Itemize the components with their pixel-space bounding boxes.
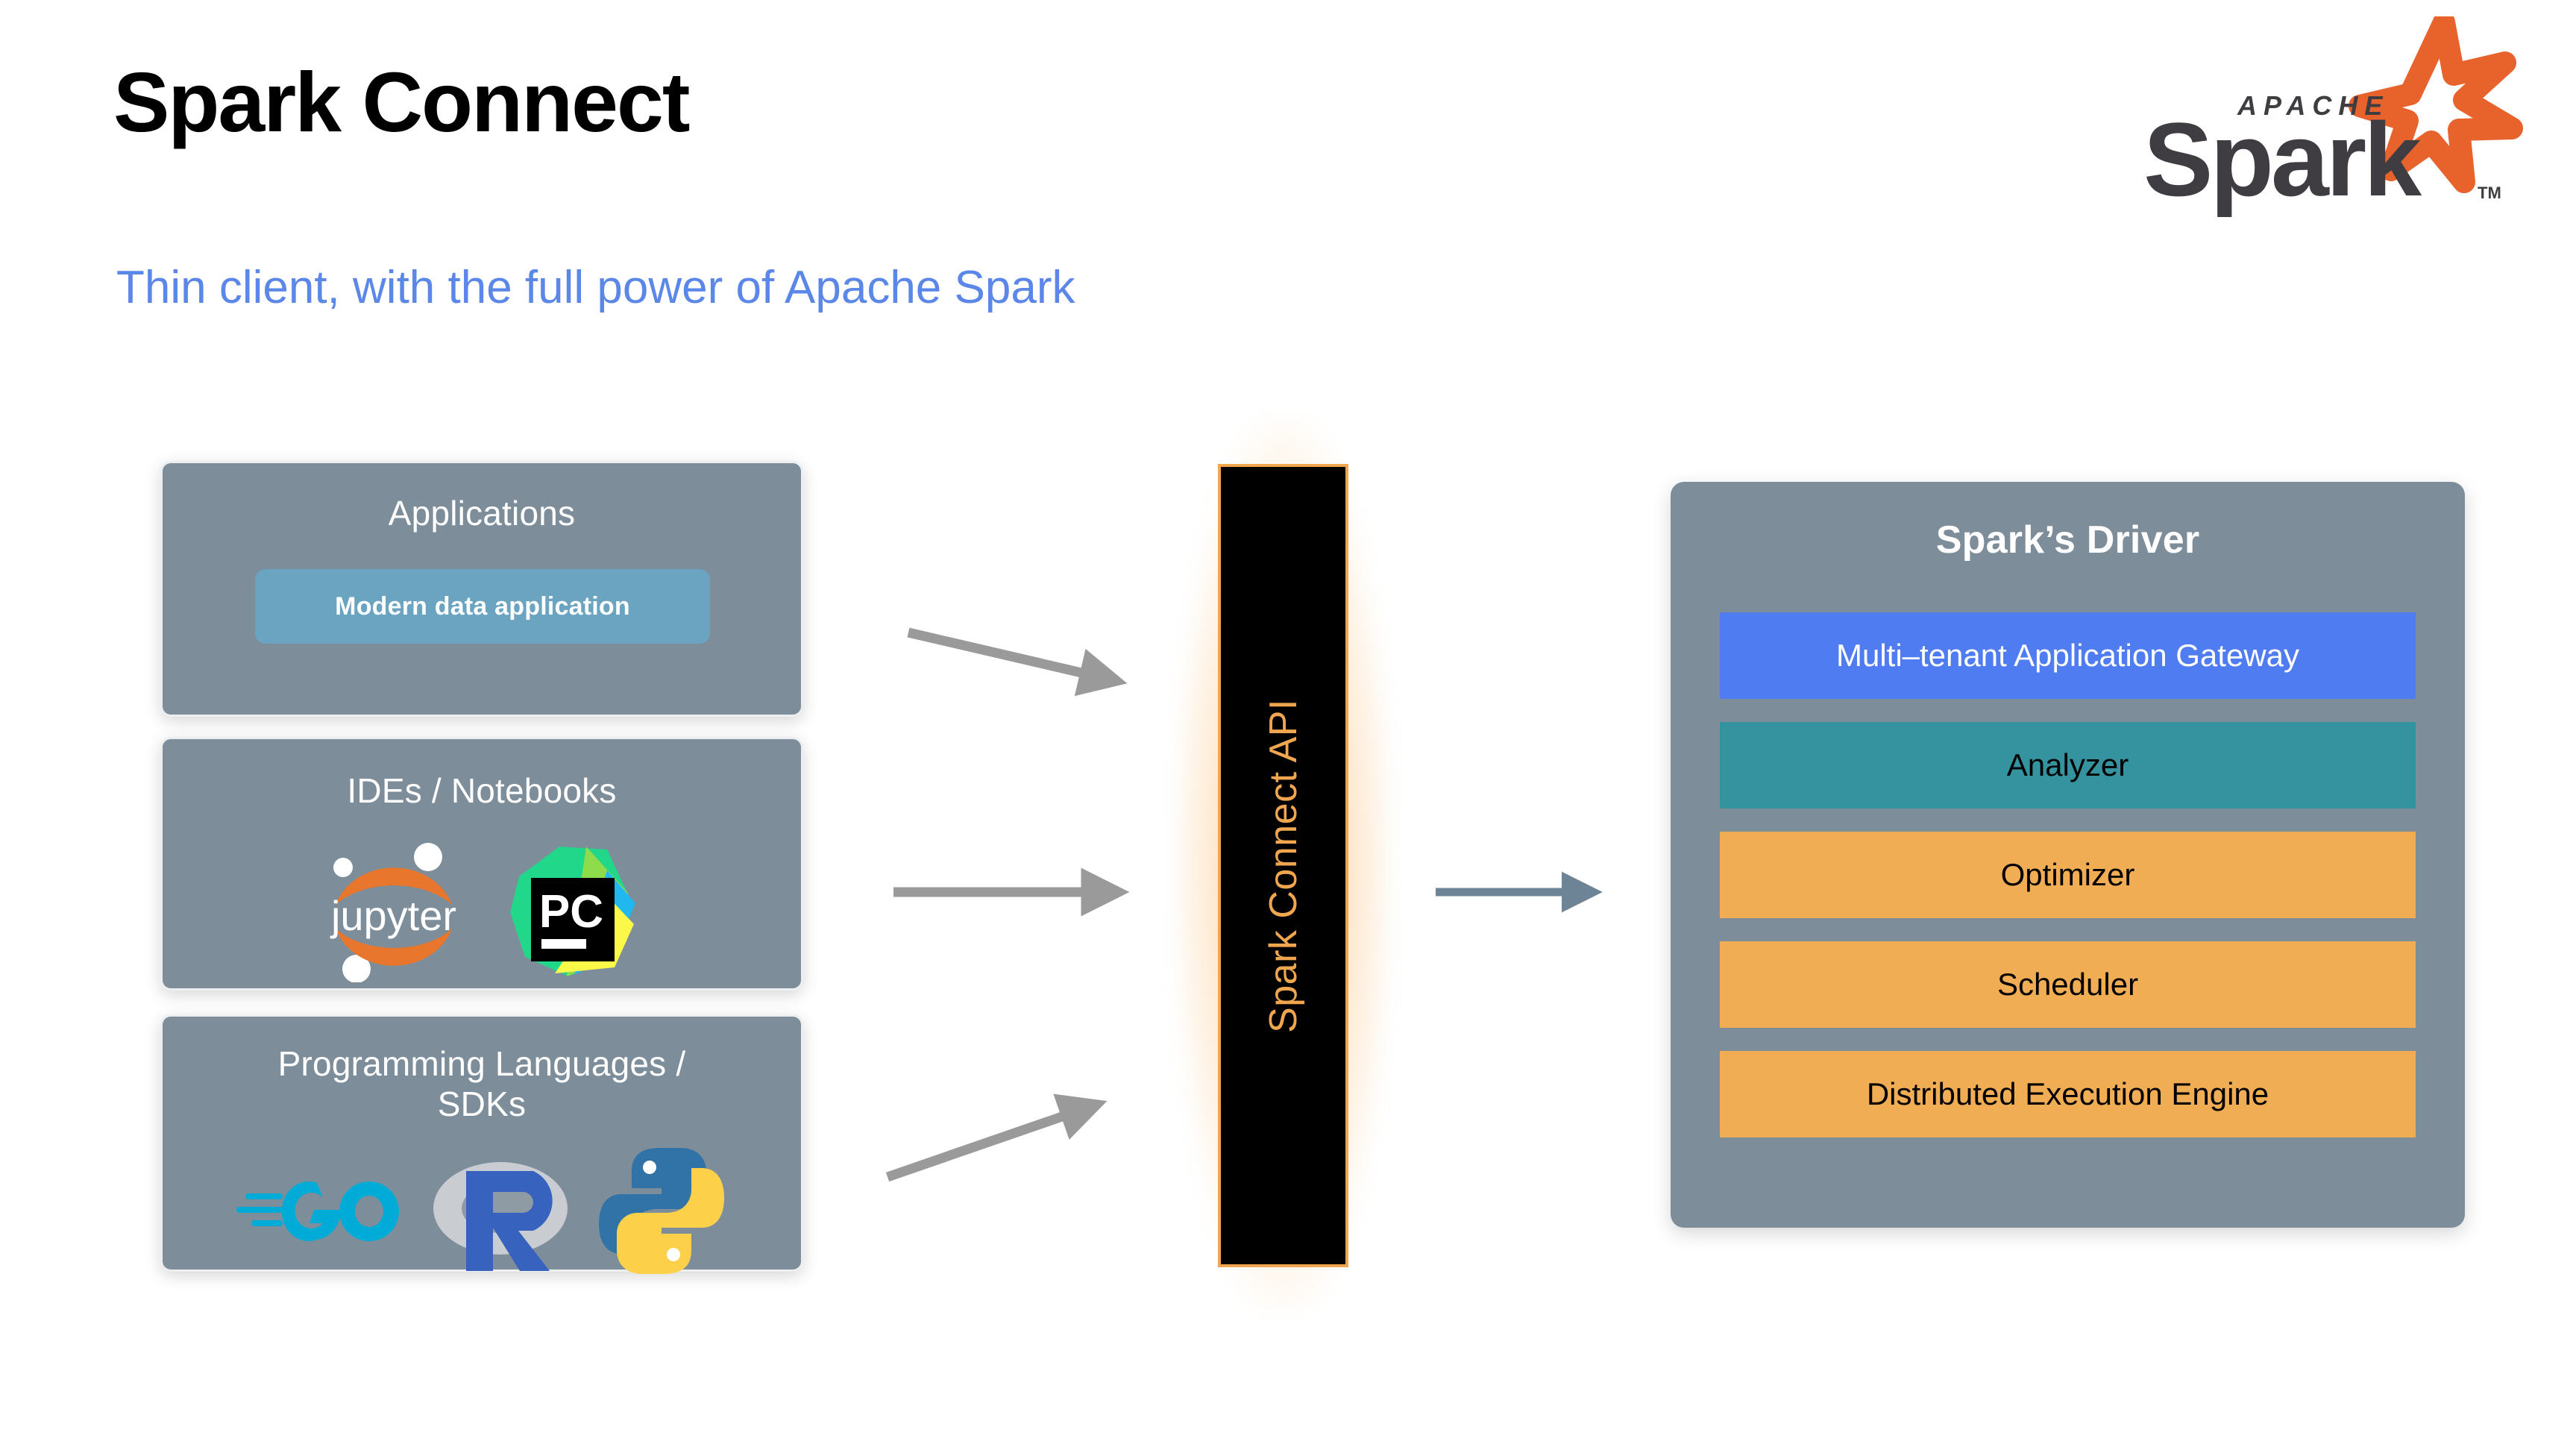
driver-layer-label: Optimizer — [2001, 858, 2135, 892]
go-letter-g — [282, 1181, 341, 1241]
python-eye-top — [643, 1161, 656, 1174]
api-bar-label: Spark Connect API — [1261, 699, 1306, 1033]
r-logo — [426, 1144, 575, 1278]
card-title-line2: SDKs — [438, 1085, 526, 1123]
driver-layer[interactable]: Analyzer — [1720, 722, 2416, 809]
arrow-applications-to-api — [908, 633, 1101, 677]
go-speed-line-3 — [251, 1220, 283, 1226]
driver-layer-label: Multi–tenant Application Gateway — [1836, 638, 2299, 673]
jupyter-wordmark: jupyter — [330, 892, 456, 939]
python-eye-bottom — [667, 1248, 680, 1261]
driver-layer[interactable]: Distributed Execution Engine — [1720, 1051, 2416, 1137]
python-logo — [594, 1142, 729, 1280]
api-bar-body: Spark Connect API — [1218, 464, 1348, 1267]
page-subtitle: Thin client, with the full power of Apac… — [116, 263, 1075, 313]
go-letter-o-inner — [355, 1196, 383, 1227]
client-card-ides-notebooks[interactable]: IDEs / Notebooks jupyter PC — [160, 737, 803, 991]
jupyter-dot-top-left — [333, 858, 353, 877]
spark-driver-panel[interactable]: Spark’s Driver Multi–tenant Application … — [1671, 482, 2465, 1228]
driver-layer[interactable]: Scheduler — [1720, 941, 2416, 1028]
driver-layer[interactable]: Multi–tenant Application Gateway — [1720, 612, 2416, 699]
modern-data-application-chip[interactable]: Modern data application — [255, 569, 710, 644]
spark-connect-api-bar[interactable]: Spark Connect API — [1218, 464, 1348, 1267]
jupyter-dot-top-right — [414, 843, 442, 871]
card-title-programming-languages: Programming Languages / SDKs — [163, 1043, 801, 1125]
spark-wordmark: Spark — [2143, 101, 2422, 218]
arrow-languages-to-api — [888, 1110, 1081, 1177]
go-speed-line-1 — [245, 1193, 283, 1199]
card-title-line1: Programming Languages / — [278, 1044, 686, 1083]
page-title: Spark Connect — [113, 58, 688, 147]
jupyter-logo: jupyter — [319, 841, 468, 982]
r-letter — [466, 1171, 553, 1271]
card-title-applications: Applications — [163, 493, 801, 533]
driver-title: Spark’s Driver — [1671, 518, 2465, 562]
pycharm-underscore — [541, 939, 586, 949]
driver-layer-label: Distributed Execution Engine — [1867, 1077, 2269, 1111]
card-title-ides-notebooks: IDEs / Notebooks — [163, 770, 801, 811]
go-speed-line-2 — [236, 1207, 283, 1213]
trademark-symbol: TM — [2478, 183, 2501, 202]
client-card-programming-languages[interactable]: Programming Languages / SDKs — [160, 1014, 803, 1272]
driver-layer-list: Multi–tenant Application GatewayAnalyzer… — [1720, 612, 2416, 1137]
driver-layer[interactable]: Optimizer — [1720, 832, 2416, 918]
client-card-applications[interactable]: Applications Modern data application — [160, 461, 803, 717]
pycharm-wordmark: PC — [539, 886, 603, 938]
go-logo — [235, 1167, 406, 1256]
apache-spark-logo: APACHE Spark TM — [2142, 16, 2530, 218]
driver-layer-label: Scheduler — [1997, 967, 2138, 1002]
driver-layer-label: Analyzer — [2007, 748, 2129, 782]
modern-data-application-label: Modern data application — [335, 592, 630, 621]
pycharm-logo: PC — [503, 841, 644, 982]
